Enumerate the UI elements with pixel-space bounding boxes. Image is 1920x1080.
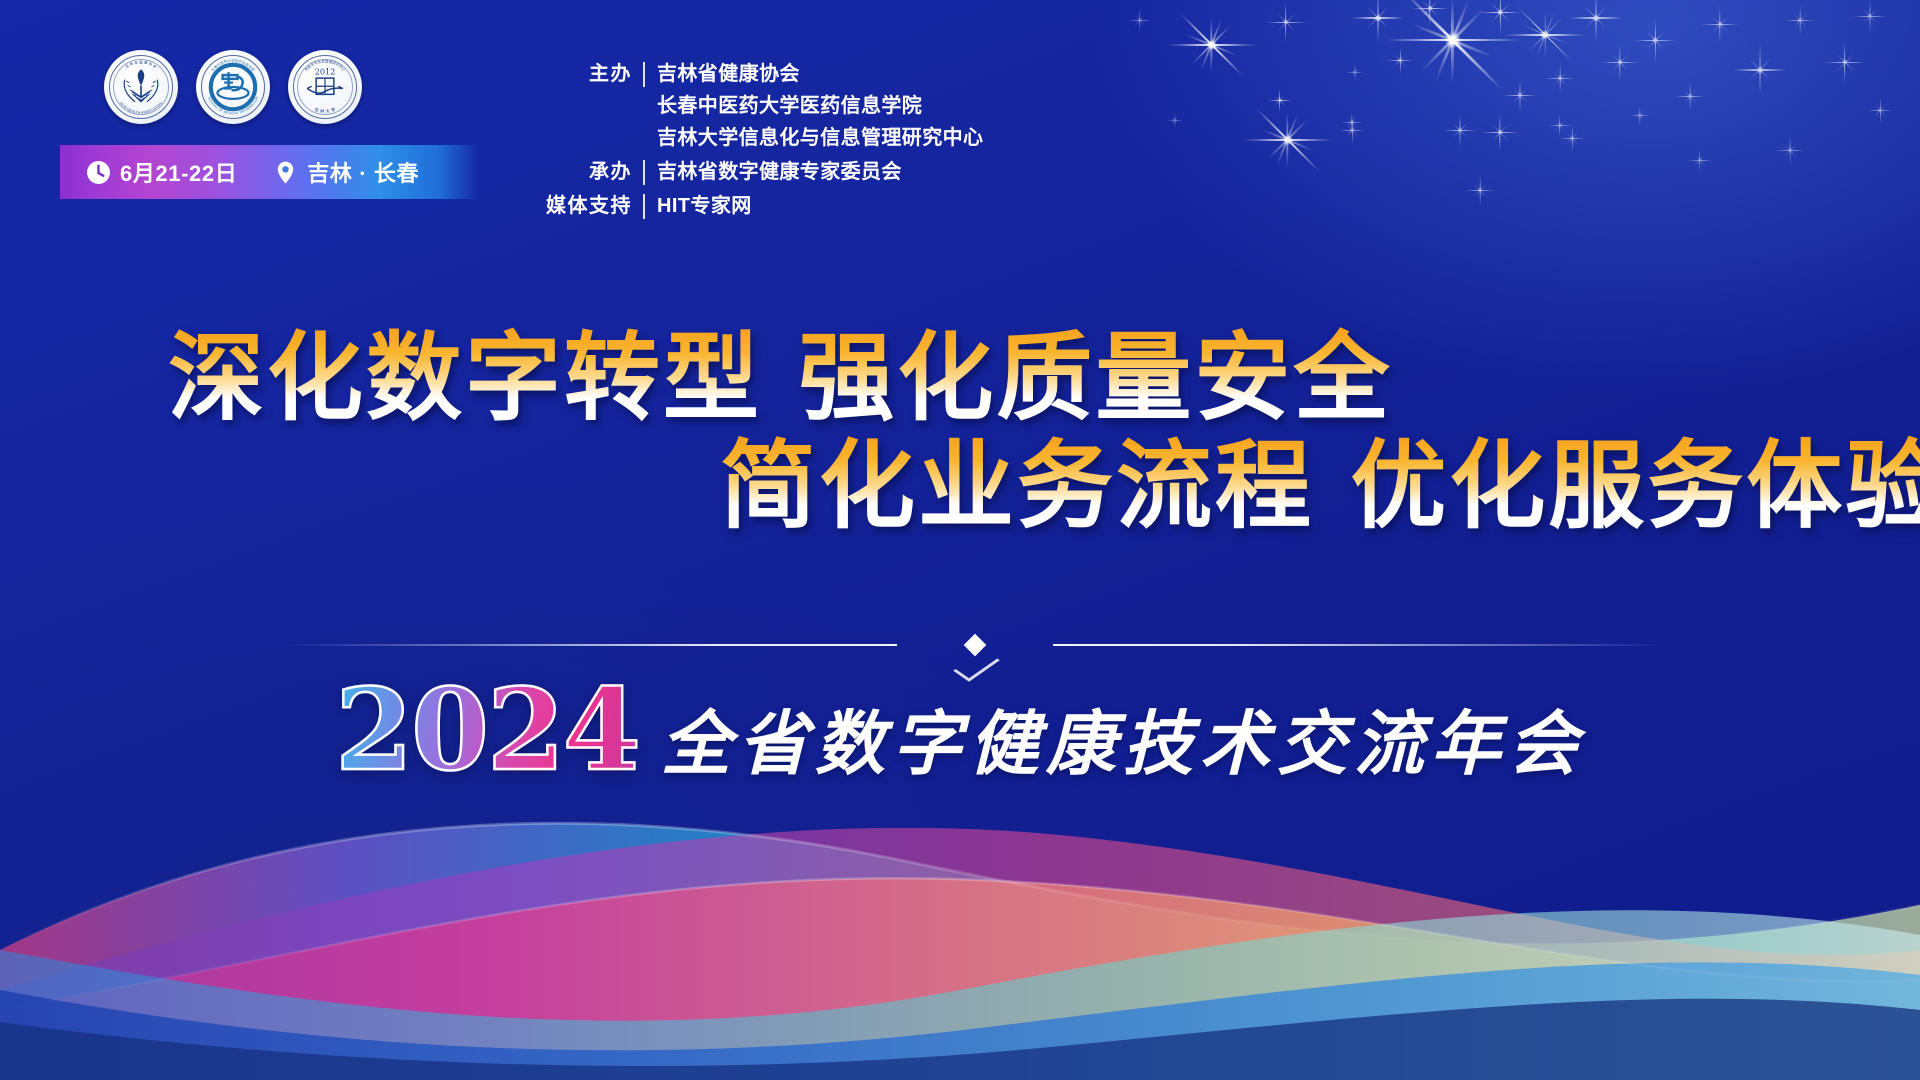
headline-line-1: 深化数字转型 强化质量安全 [168, 325, 1920, 433]
organizer-logo-group: 吉 林 省 健 康 协 会 JILIN HEALTH ASSOCIATION 长… [104, 50, 362, 124]
changchun-university-cm-logo: 长春中医药大学医药信息学院 SCHOOL OF MEDICAL INFORMAT… [196, 50, 270, 124]
location-group: 吉林 · 长春 [237, 156, 419, 188]
wave-decoration [0, 650, 1920, 1080]
svg-text:吉 林 大 学: 吉 林 大 学 [313, 106, 336, 115]
organizer-value: 吉林省健康协会 [645, 58, 983, 90]
date-location-bar: 6月21-22日 吉林 · 长春 [60, 145, 480, 199]
headline-block: 深化数字转型 强化质量安全 简化业务流程 优化服务体验 [0, 325, 1920, 540]
organizer-row-host: 主办 吉林省健康协会 长春中医药大学医药信息学院 吉林大学信息化与信息管理研究中… [536, 58, 983, 90]
jilin-university-research-center-logo: 信息化与信息管理研究中心 吉 林 大 学 2012 [288, 50, 362, 124]
organizer-value: HIT专家网 [645, 190, 752, 222]
date-group: 6月21-22日 [60, 156, 237, 188]
date-text: 6月21-22日 [120, 156, 237, 188]
svg-text:JILIN HEALTH ASSOCIATION: JILIN HEALTH ASSOCIATION [119, 101, 164, 115]
svg-text:2012: 2012 [315, 66, 336, 76]
location-pin-icon [273, 160, 298, 185]
organizer-value: 吉林省数字健康专家委员会 [645, 156, 902, 188]
organizer-label-host: 主办 [536, 58, 643, 90]
organizer-info-block: 主办 吉林省健康协会 长春中医药大学医药信息学院 吉林大学信息化与信息管理研究中… [536, 58, 983, 222]
svg-text:吉 林 省 健 康 协 会: 吉 林 省 健 康 协 会 [124, 59, 158, 69]
organizer-label-media: 媒体支持 [536, 190, 643, 222]
organizer-row-coorganizer: 承办 吉林省数字健康专家委员会 [536, 156, 983, 188]
organizer-row-media: 媒体支持 HIT专家网 [536, 190, 983, 222]
headline-line-2: 简化业务流程 优化服务体验 [720, 433, 1920, 541]
location-text: 吉林 · 长春 [307, 156, 419, 188]
organizer-value: 吉林大学信息化与信息管理研究中心 [645, 122, 983, 154]
organizer-value: 长春中医药大学医药信息学院 [645, 90, 983, 122]
jilin-health-association-logo: 吉 林 省 健 康 协 会 JILIN HEALTH ASSOCIATION [104, 50, 178, 124]
conference-banner: 吉 林 省 健 康 协 会 JILIN HEALTH ASSOCIATION 长… [0, 0, 1920, 1080]
organizer-label-coorganizer: 承办 [536, 156, 643, 188]
clock-icon [86, 160, 111, 185]
